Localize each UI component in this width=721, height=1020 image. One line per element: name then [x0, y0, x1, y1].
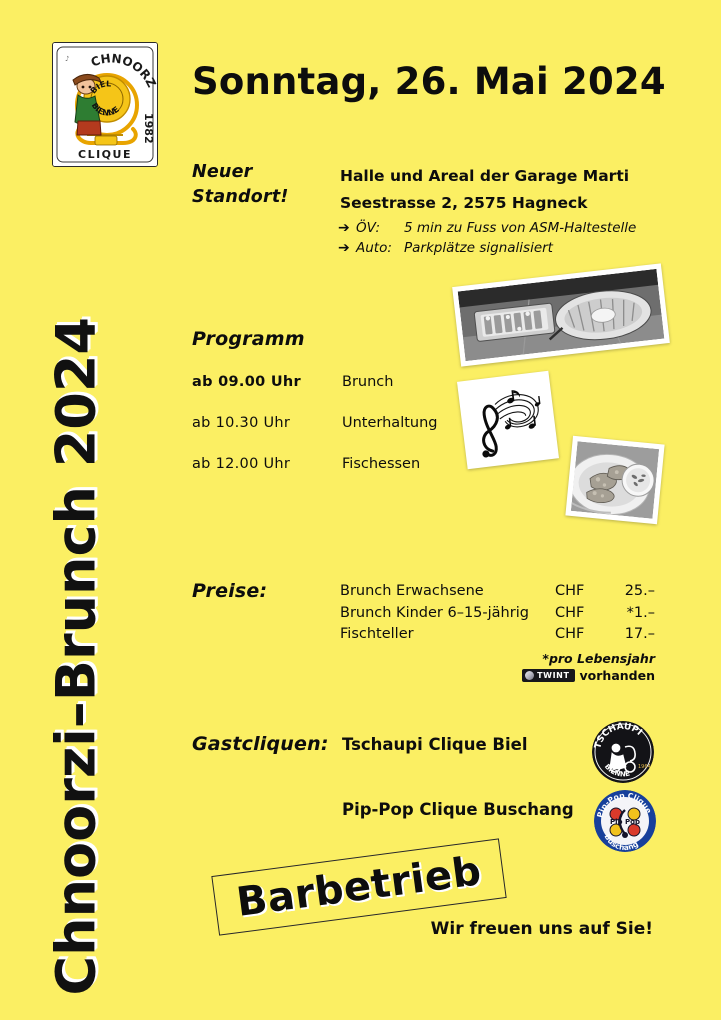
programm-row: ab 09.00 Uhr Brunch — [192, 374, 438, 415]
travel-detail-transit: 5 min zu Fuss von ASM-Haltestelle — [404, 218, 636, 238]
event-date-title: Sonntag, 26. Mai 2024 — [192, 60, 666, 103]
travel-row-transit: ➔ ÖV: 5 min zu Fuss von ASM-Haltestelle — [338, 218, 636, 238]
guest-clique-1: Tschaupi Clique Biel — [342, 735, 528, 754]
price-currency: CHF — [555, 626, 603, 642]
venue-line-1: Halle und Areal der Garage Marti — [340, 163, 629, 190]
programm-activity: Fischessen — [342, 456, 438, 472]
price-amount: 25.– — [603, 583, 655, 599]
new-location-label: Neuer Standort! — [192, 160, 289, 210]
venue-address: Halle und Areal der Garage Marti Seestra… — [340, 163, 629, 217]
travel-mode-transit: ÖV: — [356, 218, 404, 238]
price-footnote: *pro Lebensjahr — [340, 651, 655, 666]
new-location-label-line1: Neuer — [192, 160, 289, 185]
twint-label: TWINT — [537, 671, 569, 680]
travel-row-car: ➔ Auto: Parkplätze signalisiert — [338, 238, 636, 258]
price-row: Brunch Kinder 6–15-jährig CHF *1.– — [340, 605, 655, 627]
poster-root: CHNOORZI BIEL BIENNE 1982 CLIQUE ♪ Chnoo… — [0, 0, 721, 1020]
travel-mode-car: Auto: — [356, 238, 404, 258]
fried-fish-photo-image — [571, 441, 659, 519]
arrow-right-icon: ➔ — [338, 218, 356, 238]
programm-activity: Unterhaltung — [342, 415, 438, 431]
svg-text:1964: 1964 — [638, 764, 651, 770]
twint-availability: vorhanden — [580, 668, 655, 683]
twint-logo: TWINT — [522, 669, 574, 682]
twint-mark-icon — [525, 671, 534, 680]
svg-text:Pip Pop: Pip Pop — [610, 818, 640, 826]
price-row: Fischteller CHF 17.– — [340, 626, 655, 648]
programm-schedule: ab 09.00 Uhr Brunch ab 10.30 Uhr Unterha… — [192, 374, 438, 497]
price-amount: *1.– — [603, 605, 655, 621]
new-location-label-line2: Standort! — [192, 185, 289, 210]
price-list: Brunch Erwachsene CHF 25.– Brunch Kinder… — [340, 583, 655, 666]
music-notes-photo — [457, 371, 559, 470]
programm-heading: Programm — [192, 328, 305, 350]
payment-info: TWINT vorhanden — [340, 668, 655, 683]
travel-detail-car: Parkplätze signalisiert — [404, 238, 636, 258]
guest-clique-2: Pip-Pop Clique Buschang — [342, 800, 574, 819]
pip-pop-clique-logo: Pip-Pop Clique Buschang Pip Pop — [594, 790, 656, 852]
gastcliquen-heading: Gastcliquen: — [192, 733, 329, 755]
price-row: Brunch Erwachsene CHF 25.– — [340, 583, 655, 605]
programm-row: ab 10.30 Uhr Unterhaltung — [192, 415, 438, 456]
price-item: Brunch Kinder 6–15-jährig — [340, 605, 555, 621]
closing-message: Wir freuen uns auf Sie! — [0, 919, 653, 939]
price-currency: CHF — [555, 583, 603, 599]
price-item: Brunch Erwachsene — [340, 583, 555, 599]
venue-line-2: Seestrasse 2, 2575 Hagneck — [340, 190, 629, 217]
price-amount: 17.– — [603, 626, 655, 642]
music-notes-photo-image — [463, 376, 554, 463]
fried-fish-photo — [565, 436, 664, 524]
programm-row: ab 12.00 Uhr Fischessen — [192, 456, 438, 497]
programm-time: ab 09.00 Uhr — [192, 374, 342, 390]
programm-time: ab 10.30 Uhr — [192, 415, 342, 431]
price-currency: CHF — [555, 605, 603, 621]
preise-heading: Preise: — [192, 580, 267, 602]
price-item: Fischteller — [340, 626, 555, 642]
arrow-right-icon: ➔ — [338, 238, 356, 258]
travel-info: ➔ ÖV: 5 min zu Fuss von ASM-Haltestelle … — [338, 218, 636, 258]
barbetrieb-label: Barbetrieb — [213, 845, 505, 928]
tschaupi-clique-logo: TSCHAUPI BIENNE 1964 — [592, 721, 654, 783]
programm-activity: Brunch — [342, 374, 438, 390]
programm-time: ab 12.00 Uhr — [192, 456, 342, 472]
